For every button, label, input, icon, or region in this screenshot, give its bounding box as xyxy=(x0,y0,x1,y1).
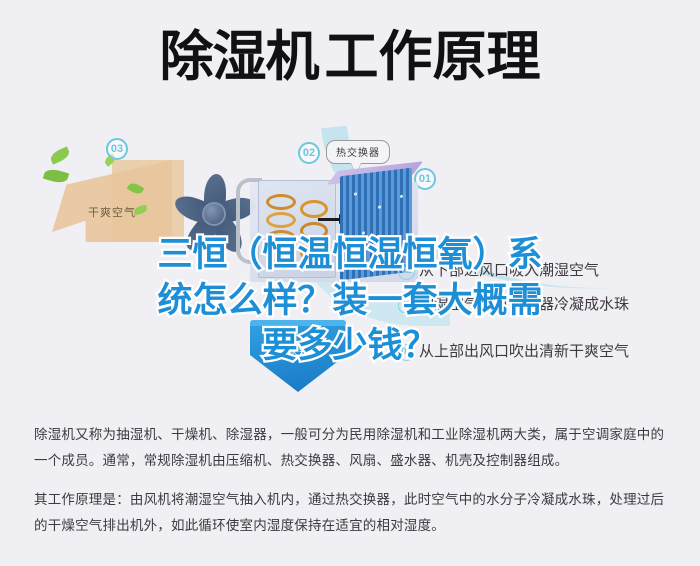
condensation-droplet xyxy=(400,195,403,198)
page-title: 除湿机工作原理 xyxy=(0,26,700,90)
copper-coil xyxy=(266,212,296,228)
body-paragraph-2: 其工作原理是：由风机将潮湿空气抽入机内，通过热交换器，此时空气中的水分子冷凝成水… xyxy=(34,487,674,540)
article-headline-overlay: 三恒（恒温恒湿恒氧）系 统怎么样？装一套大概需 要多少钱？ xyxy=(0,232,700,369)
headline-line-3: 要多少钱？ xyxy=(0,323,700,369)
condensation-droplet xyxy=(354,192,357,195)
leaf-icon xyxy=(43,167,69,185)
heat-exchanger-callout: 热交换器 xyxy=(326,140,390,164)
copper-coil xyxy=(300,200,328,218)
body-paragraph-1: 除湿机又称为抽湿机、干燥机、除湿器，一般可分为民用除湿机和工业除湿机两大类，属于… xyxy=(34,422,674,475)
step-badge-02: 02 xyxy=(298,142,320,164)
page-title-part1: 除湿机 xyxy=(160,27,319,87)
airflow-direction-arrow-icon xyxy=(318,218,340,221)
step-badge-03: 03 xyxy=(106,138,128,160)
dry-air-label: 干爽空气 xyxy=(88,204,136,220)
leaf-icon xyxy=(49,146,72,164)
headline-line-2: 统怎么样？装一套大概需 xyxy=(0,278,700,324)
fan-hub xyxy=(202,202,226,226)
copper-coil xyxy=(266,194,296,210)
condensation-droplet xyxy=(378,205,381,208)
page-title-part2: 工作原理 xyxy=(325,27,541,87)
headline-line-1: 三恒（恒温恒湿恒氧）系 xyxy=(0,232,700,278)
